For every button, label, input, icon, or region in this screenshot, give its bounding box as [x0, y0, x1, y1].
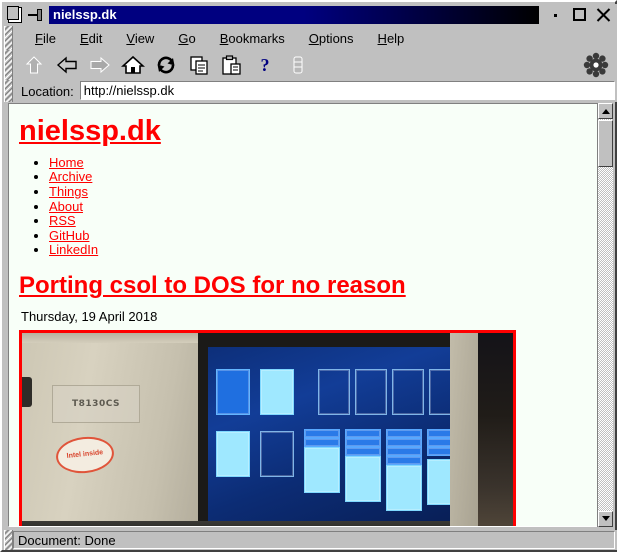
svg-text:?: ?: [261, 55, 270, 75]
statusbar-grip[interactable]: [4, 530, 13, 550]
tool-bar: ?: [4, 50, 617, 80]
card: [386, 429, 422, 438]
nav-link-linkedin[interactable]: LinkedIn: [49, 242, 98, 257]
copy-icon[interactable]: [184, 52, 214, 78]
card: [345, 447, 381, 456]
card: [318, 369, 350, 415]
back-icon[interactable]: [52, 52, 82, 78]
card: [304, 429, 340, 438]
vertical-scrollbar[interactable]: [597, 103, 613, 527]
site-title-link[interactable]: nielssp.dk: [19, 116, 161, 148]
menu-item-options[interactable]: Options: [297, 29, 366, 48]
title-bar: nielssp.dk: [4, 4, 617, 26]
scroll-thumb[interactable]: [598, 120, 613, 167]
menu-bar: File Edit View Go Bookmarks Options Help: [4, 26, 617, 50]
card: [386, 438, 422, 447]
laptop-bottom-edge: [22, 521, 450, 526]
menu-item-bookmarks[interactable]: Bookmarks: [208, 29, 297, 48]
card: [427, 429, 450, 438]
help-icon[interactable]: ?: [250, 52, 280, 78]
stop-icon[interactable]: [283, 52, 313, 78]
status-bar: Document: Done: [4, 530, 617, 550]
laptop-model-badge: T8130CS: [52, 385, 140, 423]
menubar-grip[interactable]: [4, 26, 13, 50]
maximize-icon[interactable]: [570, 6, 589, 24]
card: [386, 447, 422, 456]
content-frame: nielssp.dk Home Archive Things About RSS…: [8, 103, 613, 527]
list-item: RSS: [49, 214, 595, 229]
window-title: nielssp.dk: [49, 6, 539, 24]
locationbar-grip[interactable]: [4, 80, 13, 102]
nav-link-home[interactable]: Home: [49, 155, 84, 170]
web-page: nielssp.dk Home Archive Things About RSS…: [9, 104, 595, 526]
card: [386, 465, 422, 511]
home-icon[interactable]: [118, 52, 148, 78]
card: [429, 369, 450, 415]
up-icon[interactable]: [19, 52, 49, 78]
reload-icon[interactable]: [151, 52, 181, 78]
post-date: Thursday, 19 April 2018: [21, 309, 595, 324]
minimize-icon[interactable]: [546, 6, 565, 24]
location-bar: Location: http://nielssp.dk: [4, 80, 617, 102]
list-item: Things: [49, 185, 595, 200]
list-item: LinkedIn: [49, 243, 595, 258]
nav-link-github[interactable]: GitHub: [49, 228, 89, 243]
site-nav: Home Archive Things About RSS GitHub Lin…: [9, 156, 595, 258]
nav-link-about[interactable]: About: [49, 199, 83, 214]
card: [216, 369, 250, 415]
laptop-left-bezel: T8130CS Intel inside: [22, 339, 198, 526]
card: [304, 447, 340, 493]
menu-item-view[interactable]: View: [114, 29, 166, 48]
post-image[interactable]: T8130CS Intel inside: [19, 330, 516, 526]
status-text: Document: Done: [13, 531, 615, 549]
location-label: Location:: [13, 80, 80, 102]
laptop-hinge: [22, 377, 32, 407]
list-item: Archive: [49, 170, 595, 185]
window-controls: [541, 6, 613, 24]
post-title-link[interactable]: Porting csol to DOS for no reason: [19, 272, 406, 300]
menu-item-help[interactable]: Help: [366, 29, 417, 48]
card: [345, 456, 381, 502]
card: [386, 456, 422, 465]
solitaire-game: [208, 347, 450, 526]
card: [427, 438, 450, 447]
card: [216, 431, 250, 477]
nav-link-rss[interactable]: RSS: [49, 213, 76, 228]
list-item: GitHub: [49, 229, 595, 244]
menu-item-go[interactable]: Go: [166, 29, 207, 48]
card: [304, 438, 340, 447]
menu-item-edit[interactable]: Edit: [68, 29, 114, 48]
menu-item-file[interactable]: File: [23, 29, 68, 48]
pin-icon[interactable]: [28, 8, 44, 22]
nav-link-archive[interactable]: Archive: [49, 169, 92, 184]
card: [345, 438, 381, 447]
window-menu-icon[interactable]: [6, 6, 24, 24]
gear-icon[interactable]: [581, 52, 611, 78]
card: [345, 429, 381, 438]
nav-link-things[interactable]: Things: [49, 184, 88, 199]
laptop-sticker: Intel inside: [54, 434, 115, 476]
card: [260, 369, 294, 415]
location-input[interactable]: http://nielssp.dk: [80, 81, 615, 100]
scroll-up-arrow-icon[interactable]: [598, 103, 613, 119]
laptop-screen: [198, 333, 450, 526]
card: [260, 431, 294, 477]
close-icon[interactable]: [594, 6, 613, 24]
laptop-photo: T8130CS Intel inside: [22, 333, 513, 526]
forward-icon[interactable]: [85, 52, 115, 78]
browser-window: nielssp.dk File Edit View Go Bookmarks O…: [0, 0, 617, 552]
card: [392, 369, 424, 415]
card: [427, 447, 450, 456]
card: [427, 459, 450, 505]
laptop-right-side: [450, 333, 513, 526]
scroll-down-arrow-icon[interactable]: [598, 511, 613, 527]
list-item: Home: [49, 156, 595, 171]
list-item: About: [49, 200, 595, 215]
toolbar-grip[interactable]: [4, 50, 13, 80]
card: [355, 369, 387, 415]
paste-icon[interactable]: [217, 52, 247, 78]
